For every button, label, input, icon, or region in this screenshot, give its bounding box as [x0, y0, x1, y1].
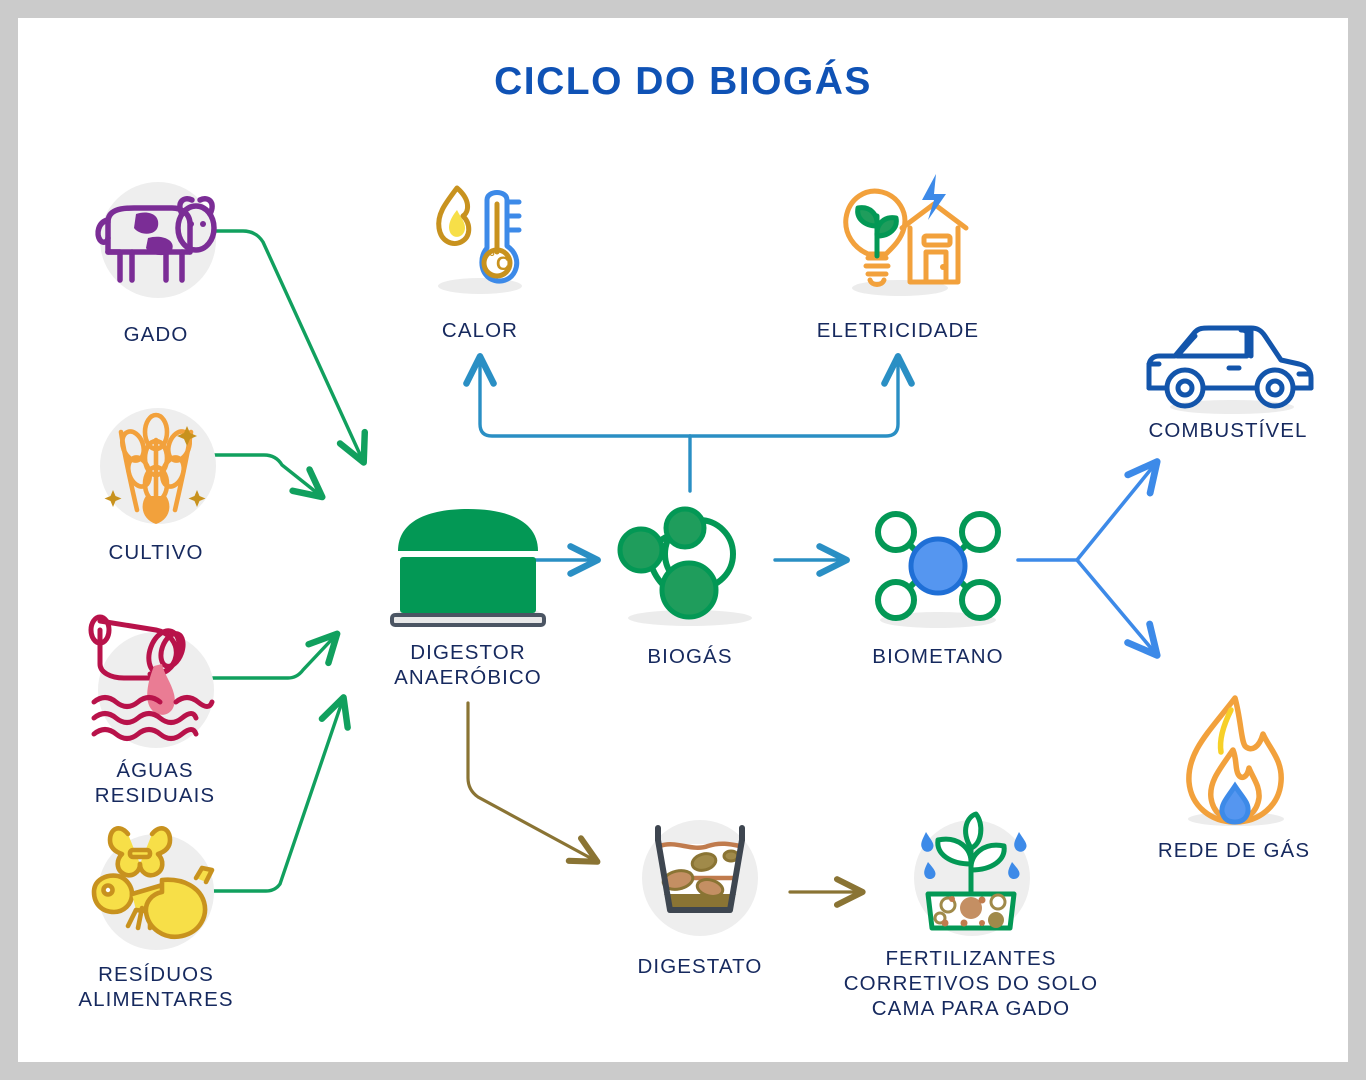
biometano-label: BIOMETANO [838, 644, 1038, 669]
node-combustivel[interactable]: COMBUSTÍVEL [1108, 318, 1348, 418]
cow-icon [86, 180, 226, 300]
node-aguas-residuais[interactable]: ÁGUAS RESIDUAIS [50, 606, 260, 752]
biogas-label: BIOGÁS [600, 644, 780, 669]
node-biometano[interactable]: BIOMETANO [838, 500, 1038, 630]
combustivel-label: COMBUSTÍVEL [1108, 418, 1348, 443]
wheat-icon [91, 388, 221, 528]
food-waste-icon [76, 818, 236, 954]
flow-biogas-eletricidade [690, 358, 898, 436]
fertilizer-sprout-icon [876, 810, 1066, 934]
residuos-alimentares-label: RESÍDUOS ALIMENTARES [46, 962, 266, 1012]
node-eletricidade[interactable]: ELETRICIDADE [788, 164, 1008, 300]
gas-flame-icon [1159, 690, 1309, 832]
node-biogas[interactable]: BIOGÁS [600, 500, 780, 630]
svg-text:C: C [496, 254, 510, 275]
calor-label: CALOR [390, 318, 570, 343]
gado-label: GADO [56, 322, 256, 347]
svg-text:°: ° [489, 249, 495, 266]
rede-de-gas-label: REDE DE GÁS [1114, 838, 1354, 863]
aguas-residuais-label: ÁGUAS RESIDUAIS [50, 758, 260, 808]
digestato-label: DIGESTATO [610, 954, 790, 979]
page-title: CICLO DO BIOGÁS [18, 60, 1348, 104]
bulb-house-bolt-icon [818, 170, 978, 300]
digestor-label: DIGESTOR ANAERÓBICO [348, 640, 588, 690]
node-gado[interactable]: GADO [56, 170, 256, 300]
biogas-molecule-icon [615, 502, 765, 630]
flow-biometano-combustivel [1077, 463, 1156, 560]
cultivo-label: CULTIVO [56, 540, 256, 565]
car-icon [1133, 322, 1323, 418]
flow-biogas-calor [480, 358, 690, 436]
node-fertilizantes[interactable]: FERTILIZANTES CORRETIVOS DO SOLO CAMA PA… [836, 808, 1106, 934]
digestate-tank-icon [630, 810, 770, 934]
eletricidade-label: ELETRICIDADE [788, 318, 1008, 343]
fertilizantes-label: FERTILIZANTES CORRETIVOS DO SOLO CAMA PA… [836, 946, 1106, 1021]
node-rede-de-gas[interactable]: REDE DE GÁS [1114, 686, 1354, 832]
node-residuos-alimentares[interactable]: RESÍDUOS ALIMENTARES [46, 818, 266, 954]
thermometer-flame-icon: ° C [415, 170, 545, 300]
anaerobic-digester-icon [378, 503, 558, 628]
wastewater-pipe-icon [80, 606, 230, 752]
diagram-canvas: CICLO DO BIOGÁS [18, 18, 1348, 1062]
node-digestor[interactable]: DIGESTOR ANAERÓBICO [348, 500, 588, 628]
node-cultivo[interactable]: CULTIVO [56, 388, 256, 528]
biomethane-molecule-icon [863, 502, 1013, 630]
node-digestato[interactable]: DIGESTATO [610, 808, 790, 934]
flow-biometano-rede-de-gas [1077, 560, 1156, 654]
flow-digestor-digestato [468, 703, 596, 861]
node-calor[interactable]: ° C CALOR [390, 164, 570, 300]
